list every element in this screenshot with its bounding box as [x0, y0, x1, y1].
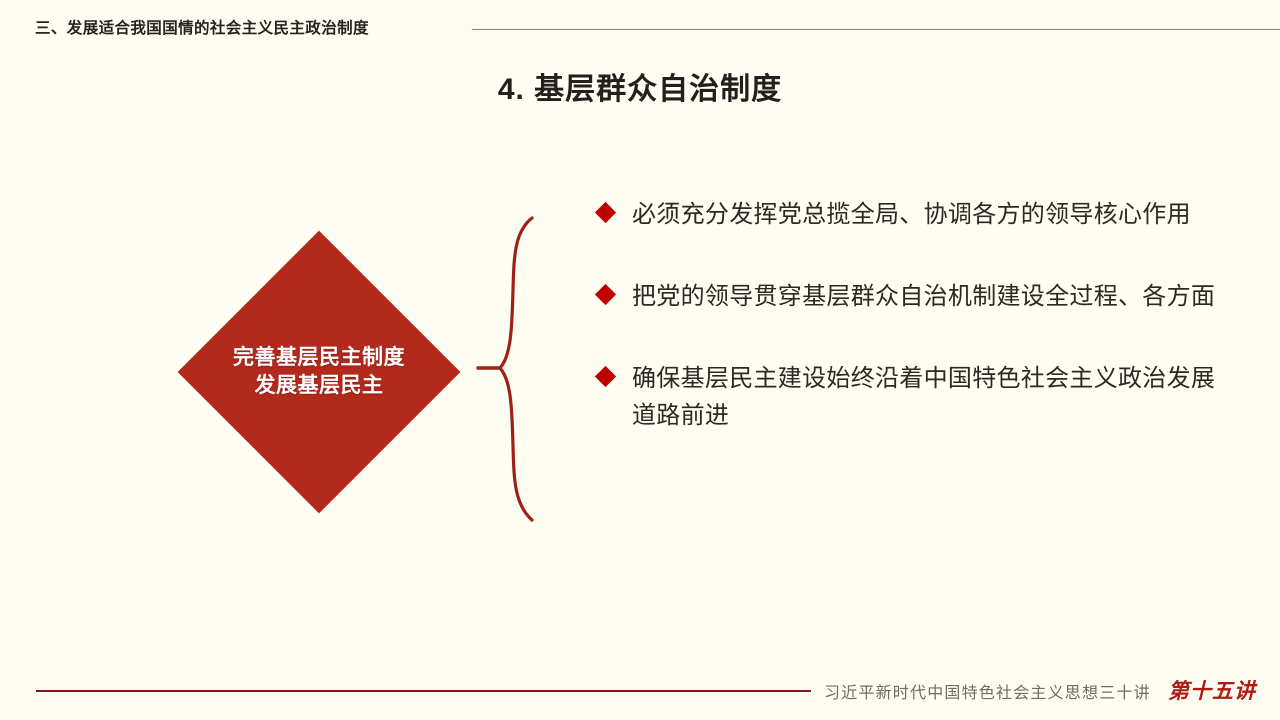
- bullet-list: 必须充分发挥党总揽全局、协调各方的领导核心作用 把党的领导贯穿基层群众自治机制建…: [598, 196, 1238, 435]
- diamond-label-line1: 完善基层民主制度: [233, 344, 405, 372]
- diamond-label: 完善基层民主制度 发展基层民主: [178, 231, 460, 513]
- page-title: 4. 基层群众自治制度: [0, 64, 1280, 108]
- brace-connector-icon: [470, 210, 540, 530]
- section-title: 三、发展适合我国国情的社会主义民主政治制度: [35, 16, 369, 38]
- footer-divider-line: [36, 690, 811, 692]
- list-item: 确保基层民主建设始终沿着中国特色社会主义政治发展道路前进: [598, 360, 1238, 435]
- list-item: 把党的领导贯穿基层群众自治机制建设全过程、各方面: [598, 278, 1238, 318]
- slide-header: 三、发展适合我国国情的社会主义民主政治制度: [0, 10, 1280, 44]
- list-item-text: 必须充分发挥党总揽全局、协调各方的领导核心作用: [632, 196, 1238, 233]
- diamond-bullet-icon: [595, 284, 616, 305]
- diamond-bullet-icon: [595, 202, 616, 223]
- presentation-slide: 三、发展适合我国国情的社会主义民主政治制度 4. 基层群众自治制度 完善基层民主…: [0, 0, 1280, 720]
- list-item: 必须充分发挥党总揽全局、协调各方的领导核心作用: [598, 196, 1238, 236]
- diamond-bullet-icon: [595, 366, 616, 387]
- diamond-label-line2: 发展基层民主: [255, 372, 384, 400]
- footer-lecture-number: 第十五讲: [1168, 675, 1256, 705]
- list-item-text: 确保基层民主建设始终沿着中国特色社会主义政治发展道路前进: [632, 360, 1238, 435]
- list-item-text: 把党的领导贯穿基层群众自治机制建设全过程、各方面: [632, 278, 1238, 315]
- slide-footer: 习近平新时代中国特色社会主义思想三十讲 第十五讲: [0, 660, 1280, 720]
- diagram-diamond-node: 完善基层民主制度 发展基层民主: [178, 231, 460, 513]
- footer-series-title: 习近平新时代中国特色社会主义思想三十讲: [824, 679, 1151, 703]
- header-divider-line: [472, 29, 1280, 30]
